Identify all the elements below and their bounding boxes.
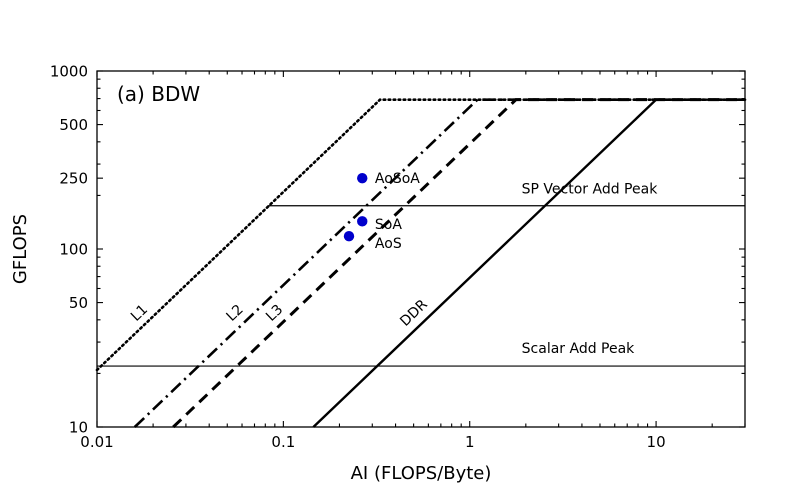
data-point-label-AoSoA: AoSoA	[375, 171, 420, 187]
data-point-AoSoA	[357, 173, 367, 183]
y-tick-label: 100	[59, 241, 88, 259]
y-tick-label: 10	[69, 419, 88, 437]
panel-title: (a) BDW	[117, 82, 200, 106]
y-tick-label: 500	[59, 116, 88, 134]
y-tick-label: 250	[59, 170, 88, 188]
y-tick-label: 50	[69, 294, 88, 312]
data-point-AoS	[344, 231, 354, 241]
roofline-chart-figure: 0.010.111010501002505001000 L1L2L3DDR SP…	[0, 0, 800, 500]
data-point-label-AoS: AoS	[375, 236, 402, 252]
y-tick-label: 1000	[50, 63, 88, 81]
x-axis-title: AI (FLOPS/Byte)	[351, 463, 492, 484]
data-point-label-SoA: SoA	[375, 217, 402, 233]
data-point-SoA	[357, 216, 367, 226]
x-tick-label: 0.1	[271, 433, 295, 451]
peak-label-scalar-add-peak: Scalar Add Peak	[522, 341, 636, 357]
y-axis-title: GFLOPS	[10, 214, 31, 284]
x-tick-label: 10	[647, 433, 666, 451]
peak-label-sp-vector-add-peak: SP Vector Add Peak	[522, 182, 659, 198]
roofline-plot: 0.010.111010501002505001000 L1L2L3DDR SP…	[0, 0, 800, 500]
x-tick-label: 1	[465, 433, 475, 451]
